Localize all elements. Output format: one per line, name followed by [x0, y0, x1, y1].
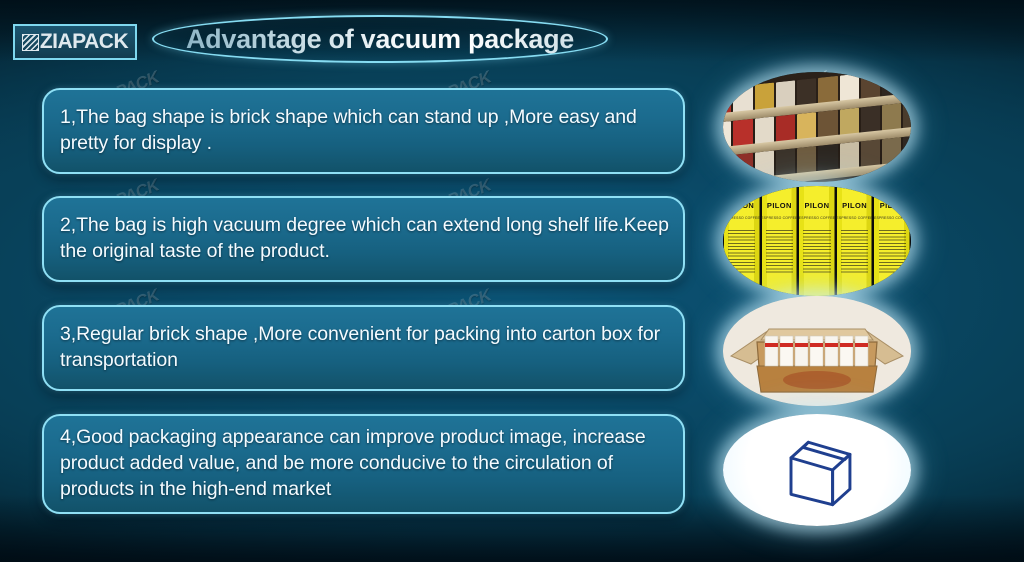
hatched-z-icon	[22, 34, 39, 51]
pilon-brand-label: PILON	[798, 201, 836, 210]
pilon-pack-row: PILON ESPRESSO COFFEE PILON ESPRESSO COF…	[723, 186, 911, 296]
brick-bag-icon-panel	[723, 414, 911, 526]
pilon-text-block	[803, 230, 830, 274]
title-oval-frame: Advantage of vacuum package	[152, 15, 608, 63]
pilon-brand-label: PILON	[761, 201, 799, 210]
pilon-subtitle-label: ESPRESSO COFFEE	[836, 216, 874, 220]
shelf-scene	[723, 72, 911, 182]
page-title: Advantage of vacuum package	[186, 24, 574, 55]
pilon-brand-label: PILON	[873, 201, 911, 210]
supermarket-shelf-photo	[723, 72, 911, 182]
pilon-pack: PILON ESPRESSO COFFEE	[761, 186, 799, 296]
pilon-text-block	[879, 230, 906, 274]
pilon-subtitle-label: ESPRESSO COFFEE	[798, 216, 836, 220]
advantage-box-2: 2,The bag is high vacuum degree which ca…	[42, 196, 685, 282]
pilon-text-block	[728, 230, 755, 274]
pilon-subtitle-label: ESPRESSO COFFEE	[873, 216, 911, 220]
pilon-pack: PILON ESPRESSO COFFEE	[798, 186, 836, 296]
pilon-coffee-bricks-photo: PILON ESPRESSO COFFEE PILON ESPRESSO COF…	[723, 186, 911, 296]
advantage-text-1: 1,The bag shape is brick shape which can…	[60, 104, 669, 156]
pilon-pack: PILON ESPRESSO COFFEE	[836, 186, 874, 296]
bag-icon-scene	[723, 414, 911, 526]
advantage-text-4: 4,Good packaging appearance can improve …	[60, 424, 669, 502]
advantage-text-3: 3,Regular brick shape ,More convenient f…	[60, 321, 669, 373]
carton-box-photo	[723, 296, 911, 406]
slide-canvas: ZIAPACK Advantage of vacuum package 1,Th…	[0, 0, 1024, 562]
pilon-text-block	[766, 230, 793, 274]
advantage-text-2: 2,The bag is high vacuum degree which ca…	[60, 212, 669, 264]
advantage-box-4: 4,Good packaging appearance can improve …	[42, 414, 685, 514]
pilon-subtitle-label: ESPRESSO COFFEE	[723, 216, 761, 220]
advantage-box-3: 3,Regular brick shape ,More convenient f…	[42, 305, 685, 391]
pilon-text-block	[841, 230, 868, 274]
advantage-box-1: 1,The bag shape is brick shape which can…	[42, 88, 685, 174]
pilon-pack: PILON ESPRESSO COFFEE	[723, 186, 761, 296]
brick-bag-icon	[765, 428, 869, 512]
pilon-brand-label: PILON	[836, 201, 874, 210]
logo-text-wrap: ZIAPACK	[22, 30, 128, 54]
pilon-subtitle-label: ESPRESSO COFFEE	[761, 216, 799, 220]
carton-scene	[723, 296, 911, 406]
company-logo: ZIAPACK	[13, 24, 137, 60]
logo-label: ZIAPACK	[40, 30, 128, 54]
carton-box-illustration	[723, 296, 911, 406]
pilon-pack: PILON ESPRESSO COFFEE	[873, 186, 911, 296]
pilon-brand-label: PILON	[723, 201, 761, 210]
